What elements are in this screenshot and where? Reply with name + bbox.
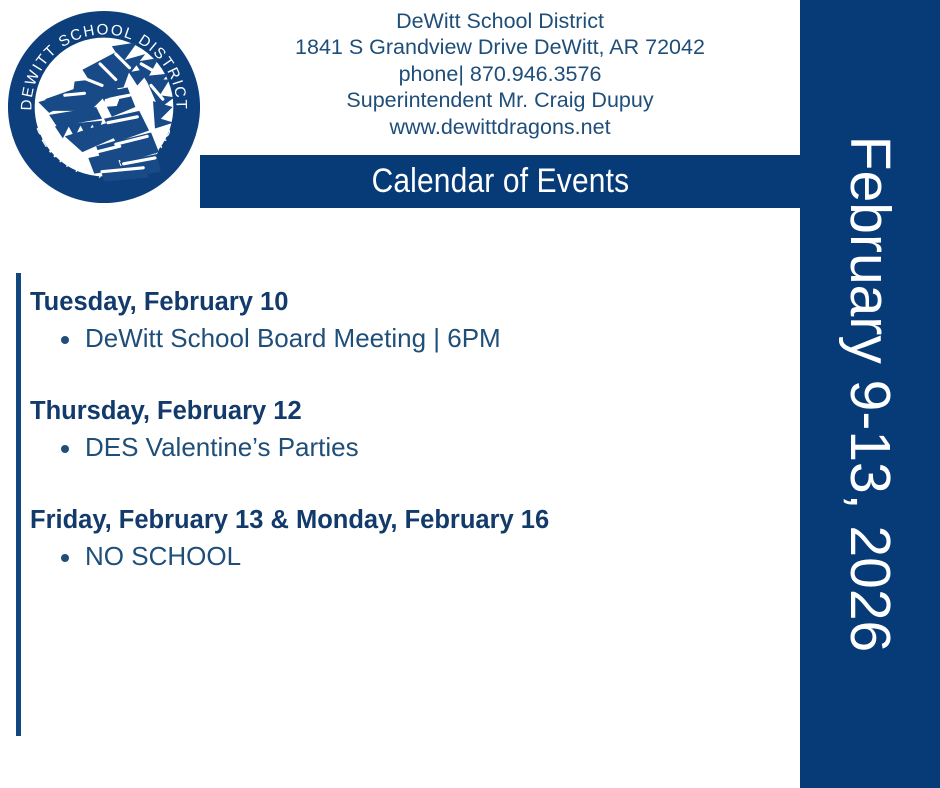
district-contact-info: DeWitt School District 1841 S Grandview …	[200, 8, 800, 140]
district-name: DeWitt School District	[200, 8, 800, 34]
event-date-heading: Friday, February 13 & Monday, February 1…	[30, 504, 770, 536]
event-item: DeWitt School Board Meeting | 6PM	[59, 321, 770, 356]
event-item-list: DES Valentine’s Parties	[30, 430, 770, 465]
event-item-list: NO SCHOOL	[30, 539, 770, 574]
event-date-heading: Tuesday, February 10	[30, 286, 770, 318]
calendar-of-events-flyer: February 9-13, 2026 DeWitt School Distri…	[0, 0, 940, 788]
event-group: Tuesday, February 10 DeWitt School Board…	[30, 286, 770, 356]
event-group: Thursday, February 12 DES Valentine’s Pa…	[30, 395, 770, 465]
event-group: Friday, February 13 & Monday, February 1…	[30, 504, 770, 574]
district-superintendent: Superintendent Mr. Craig Dupuy	[200, 87, 800, 113]
district-address: 1841 S Grandview Drive DeWitt, AR 72042	[200, 34, 800, 60]
event-item: DES Valentine’s Parties	[59, 430, 770, 465]
district-website: www.dewittdragons.net	[200, 114, 800, 140]
banner-title: Calendar of Events	[371, 162, 629, 201]
date-range-sidebar: February 9-13, 2026	[800, 0, 940, 788]
date-range-text: February 9-13, 2026	[837, 136, 903, 652]
event-item-list: DeWitt School Board Meeting | 6PM	[30, 321, 770, 356]
district-phone: phone| 870.946.3576	[200, 61, 800, 87]
date-range-label-wrapper: February 9-13, 2026	[800, 0, 940, 788]
event-date-heading: Thursday, February 12	[30, 395, 770, 427]
calendar-of-events-banner: Calendar of Events	[200, 155, 800, 208]
dewitt-dragon-seal-logo-icon: DEWITT SCHOOL DISTRICT DEWITT · ARKANSAS	[6, 9, 202, 205]
left-accent-rule	[16, 273, 21, 736]
events-list: Tuesday, February 10 DeWitt School Board…	[30, 286, 770, 574]
event-item: NO SCHOOL	[59, 539, 770, 574]
